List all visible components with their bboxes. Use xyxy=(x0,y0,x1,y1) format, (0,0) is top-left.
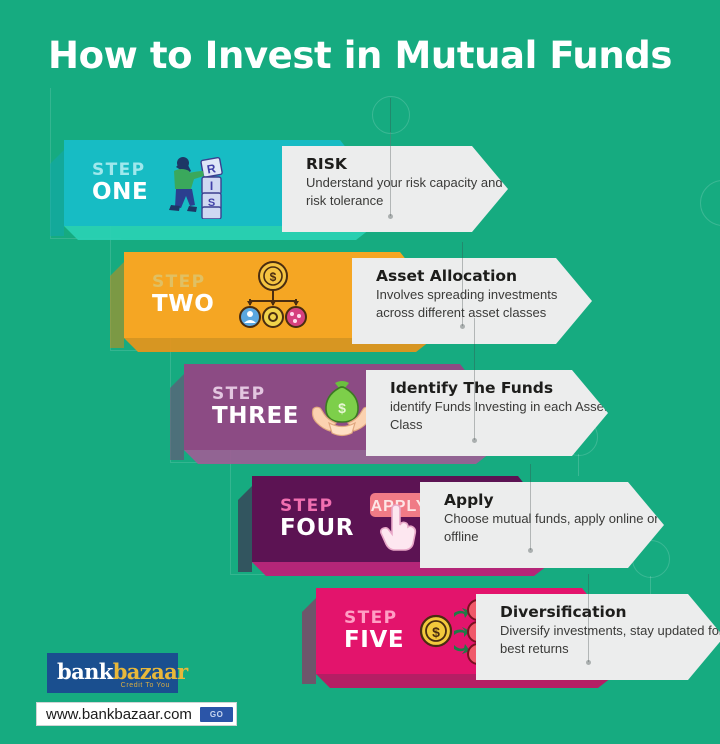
step-five-number: FIVE xyxy=(344,629,404,652)
step-four-body: Choose mutual funds, apply online or off… xyxy=(444,510,664,545)
go-button[interactable]: GO xyxy=(200,707,233,722)
step-five-heading: Diversification xyxy=(500,603,720,621)
logo-word-bazaar: bazaar xyxy=(113,659,188,684)
logo-tagline: Credit To You xyxy=(121,682,170,689)
step-one-pin-dot xyxy=(388,214,393,219)
step-two-number: TWO xyxy=(152,293,214,316)
step-four-pin-dot xyxy=(528,548,533,553)
step-four-word: STEP xyxy=(280,498,354,515)
step-three-body: identify Funds Investing in each Asset C… xyxy=(390,398,608,433)
step-three-pin-dot xyxy=(472,438,477,443)
step-three-side xyxy=(170,374,184,460)
bankbazaar-logo: bankbazaar Credit To You xyxy=(47,653,178,693)
step-four-pin-line xyxy=(530,464,531,550)
step-two-side xyxy=(110,262,124,348)
deco-stem-2 xyxy=(578,454,579,476)
step-four-card[interactable]: Apply Choose mutual funds, apply online … xyxy=(420,482,664,568)
step-two-pin-line xyxy=(462,242,463,326)
step-one-body: Understand your risk capacity and risk t… xyxy=(306,174,508,209)
step-five-body: Diversify investments, stay updated for … xyxy=(500,622,720,657)
infographic-canvas: How to Invest in Mutual Funds STEP ONE R… xyxy=(0,0,720,744)
step-five-side xyxy=(302,598,316,684)
step-five-pin-dot xyxy=(586,660,591,665)
step-four-number: FOUR xyxy=(280,517,354,540)
step-one-label: STEP ONE xyxy=(92,162,148,204)
url-text: www.bankbazaar.com xyxy=(37,706,192,723)
step-two-body: Involves spreading investments across di… xyxy=(376,286,592,321)
page-title: How to Invest in Mutual Funds xyxy=(0,34,720,77)
step-five-label: STEP FIVE xyxy=(344,610,404,652)
person-stacking-risk-blocks-icon: R I S xyxy=(162,147,236,219)
step-three-word: STEP xyxy=(212,386,299,403)
step-three-card[interactable]: Identify The Funds identify Funds Invest… xyxy=(366,370,608,456)
logo-wordmark: bankbazaar xyxy=(57,659,188,684)
step-two-pin-dot xyxy=(460,324,465,329)
step-five-word: STEP xyxy=(344,610,404,627)
step-one-number: ONE xyxy=(92,181,148,204)
step-two-heading: Asset Allocation xyxy=(376,267,592,285)
svg-text:$: $ xyxy=(338,400,346,416)
deco-circle-4 xyxy=(700,180,720,226)
step-two-card[interactable]: Asset Allocation Involves spreading inve… xyxy=(352,258,592,344)
step-one-pin-line xyxy=(390,98,391,216)
step-three-label: STEP THREE xyxy=(212,386,299,428)
logo-word-bank: bank xyxy=(57,659,113,684)
step-three-heading: Identify The Funds xyxy=(390,379,608,397)
step-one-word: STEP xyxy=(92,162,148,179)
step-one-heading: RISK xyxy=(306,155,508,173)
step-one-side xyxy=(50,150,64,236)
step-four-heading: Apply xyxy=(444,491,664,509)
svg-text:$: $ xyxy=(270,270,277,284)
svg-text:I: I xyxy=(210,179,213,193)
step-two-label: STEP TWO xyxy=(152,274,214,316)
step-five-card[interactable]: Diversification Diversify investments, s… xyxy=(476,594,720,680)
step-four-side xyxy=(238,486,252,572)
step-one-card[interactable]: RISK Understand your risk capacity and r… xyxy=(282,146,508,232)
url-bar[interactable]: www.bankbazaar.com GO xyxy=(36,702,237,726)
step-two-word: STEP xyxy=(152,274,214,291)
coin-branching-assets-icon: $ xyxy=(236,259,310,331)
step-four-label: STEP FOUR xyxy=(280,498,354,540)
step-three-pin-line xyxy=(474,318,475,440)
step-three-number: THREE xyxy=(212,405,299,428)
deco-circle-1 xyxy=(372,96,410,134)
step-five-pin-line xyxy=(588,574,589,662)
svg-text:$: $ xyxy=(432,624,440,640)
